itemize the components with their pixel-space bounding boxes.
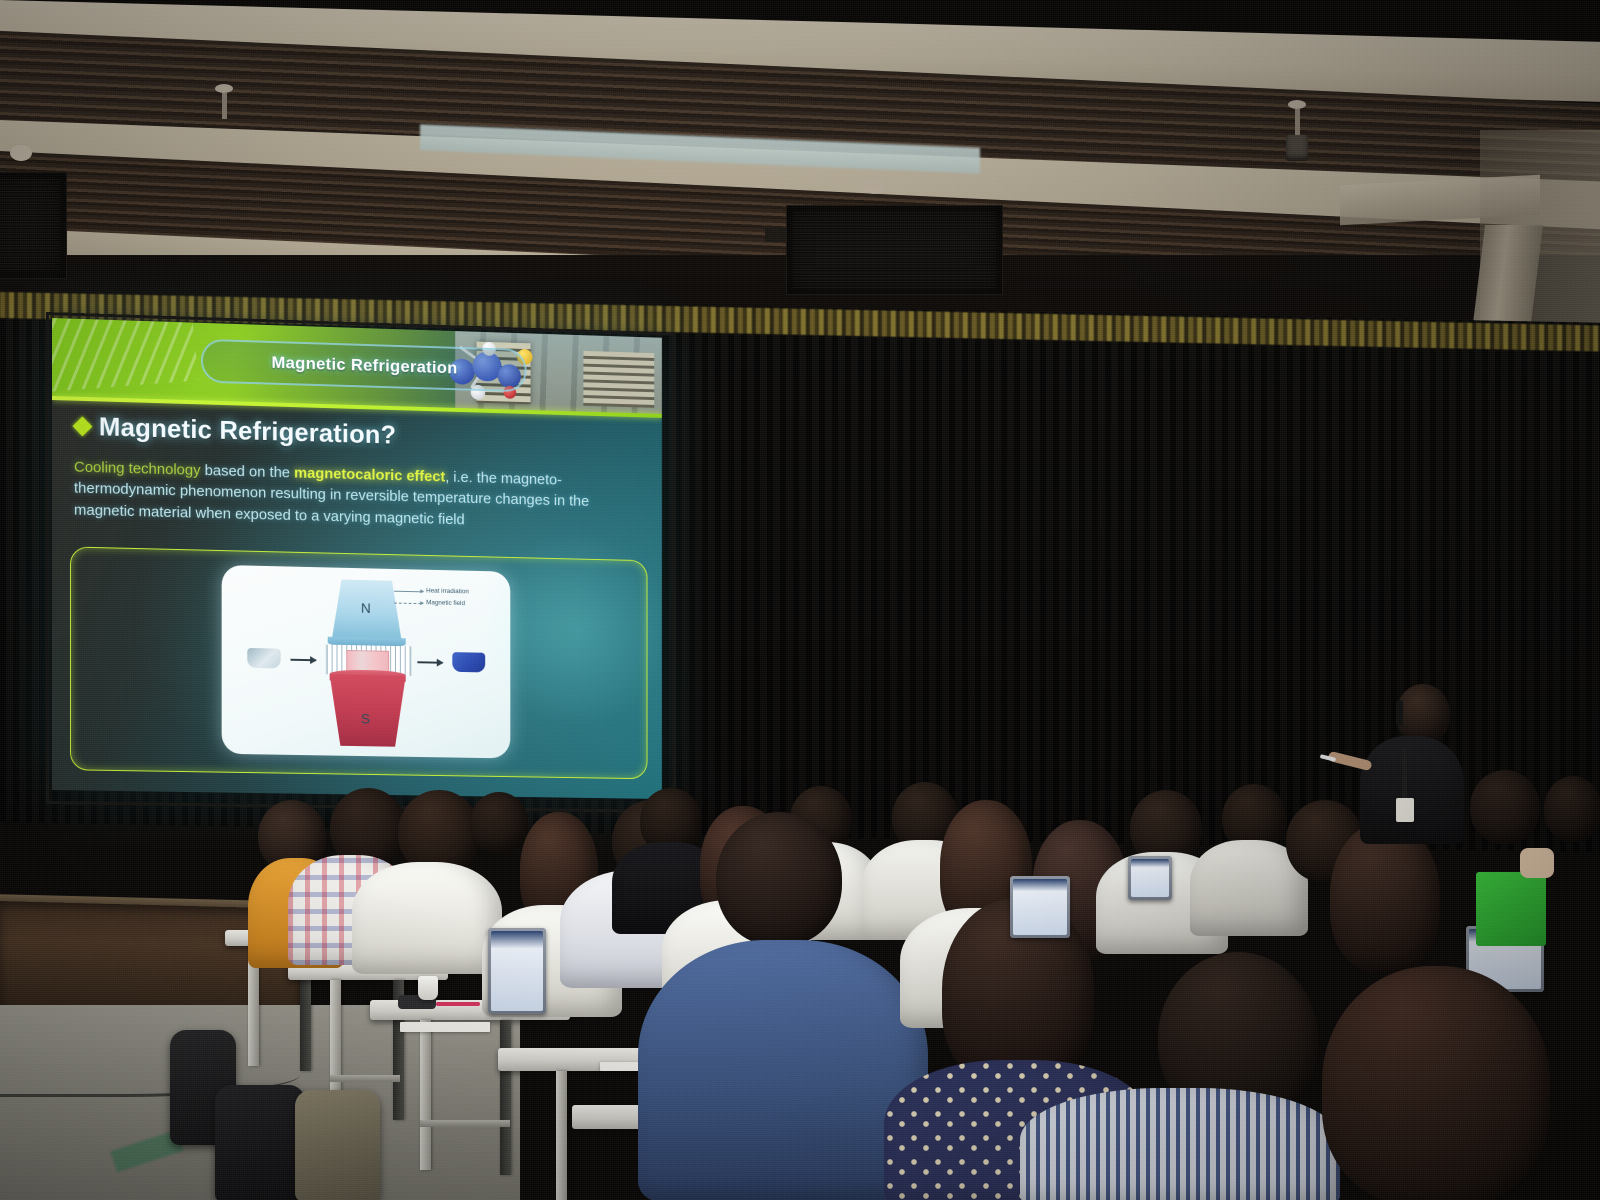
speaker-bracket [765,228,787,242]
input-material-chip [247,648,280,669]
backpack-dark [215,1085,305,1200]
notebook-paper [400,1022,490,1032]
ceiling-dome-light-center [862,178,886,194]
green-folder [1476,872,1546,946]
lecture-hall-photo: Magnetic Refrigeration Magnetic Refriger… [0,0,1600,1200]
figure-legend: Heat irradiation Magnetic field [394,585,503,611]
legend-label-magnetic-field: Magnetic field [426,597,465,610]
projection-screen: Magnetic Refrigeration Magnetic Refriger… [52,318,662,799]
spotlight-stem [222,93,227,119]
spotlight-mount [215,84,233,93]
id-badge [1396,798,1414,822]
backpack-khaki [295,1090,380,1200]
speaker-center [786,205,1003,295]
slide-heading-row: Magnetic Refrigeration? [74,411,396,451]
magnetic-field-icon [394,602,423,604]
body-emphasis-cooling: Cooling technology [74,459,201,479]
desk-leg [556,1071,567,1200]
body-text-part2: based on the [201,462,295,481]
arrow-in-icon [290,659,315,661]
header-ladder-graphic [52,318,199,392]
raised-hand [1520,848,1554,878]
body-emphasis-magnetocaloric: magnetocaloric effect [294,465,445,486]
spotlight-right [1286,100,1308,161]
spotlight-can [1286,135,1308,161]
laptop-screen [1131,859,1169,897]
figure-card: N S Heat irradiation [222,565,511,758]
presentation-slide: Magnetic Refrigeration Magnetic Refriger… [52,318,662,799]
laptop-right [1010,876,1070,938]
lanyard-strap [1402,748,1407,802]
pink-pen [436,1002,480,1006]
slide-figure-box: N S Heat irradiation [70,546,648,779]
laptop-far-right [1128,856,1172,900]
microphone [1396,700,1403,726]
diamond-bullet-icon [74,418,91,435]
legend-label-heat-irradiation: Heat irradiation [426,586,469,599]
paper-cup [418,976,438,1000]
desk-leg [500,1020,511,1175]
desk-rail [330,1075,400,1082]
desk-rail [420,1120,510,1127]
slide-body-text: Cooling technology based on the magnetoc… [74,457,640,535]
heat-irradiation-icon [394,590,423,592]
laptop-screen [491,931,543,1011]
laptop-screen [1013,879,1067,935]
speaker-left [0,172,67,279]
spotlight-stem [1295,109,1300,135]
spotlight-mount [1288,100,1306,109]
spotlight-left [215,84,233,119]
desk-leg [420,1020,431,1170]
magnet-south-label: S [361,711,370,727]
legend-item-magnetic-field: Magnetic field [394,597,503,611]
magnet-north-label: N [361,600,371,616]
output-material-chip [452,652,485,672]
slide-heading: Magnetic Refrigeration? [99,411,396,450]
slide-banner-pill: Magnetic Refrigeration [201,339,527,393]
laptop [488,928,546,1014]
ceiling-dome-light [10,145,32,161]
slide-banner-label: Magnetic Refrigeration [271,353,457,379]
arrow-out-icon [417,661,442,663]
